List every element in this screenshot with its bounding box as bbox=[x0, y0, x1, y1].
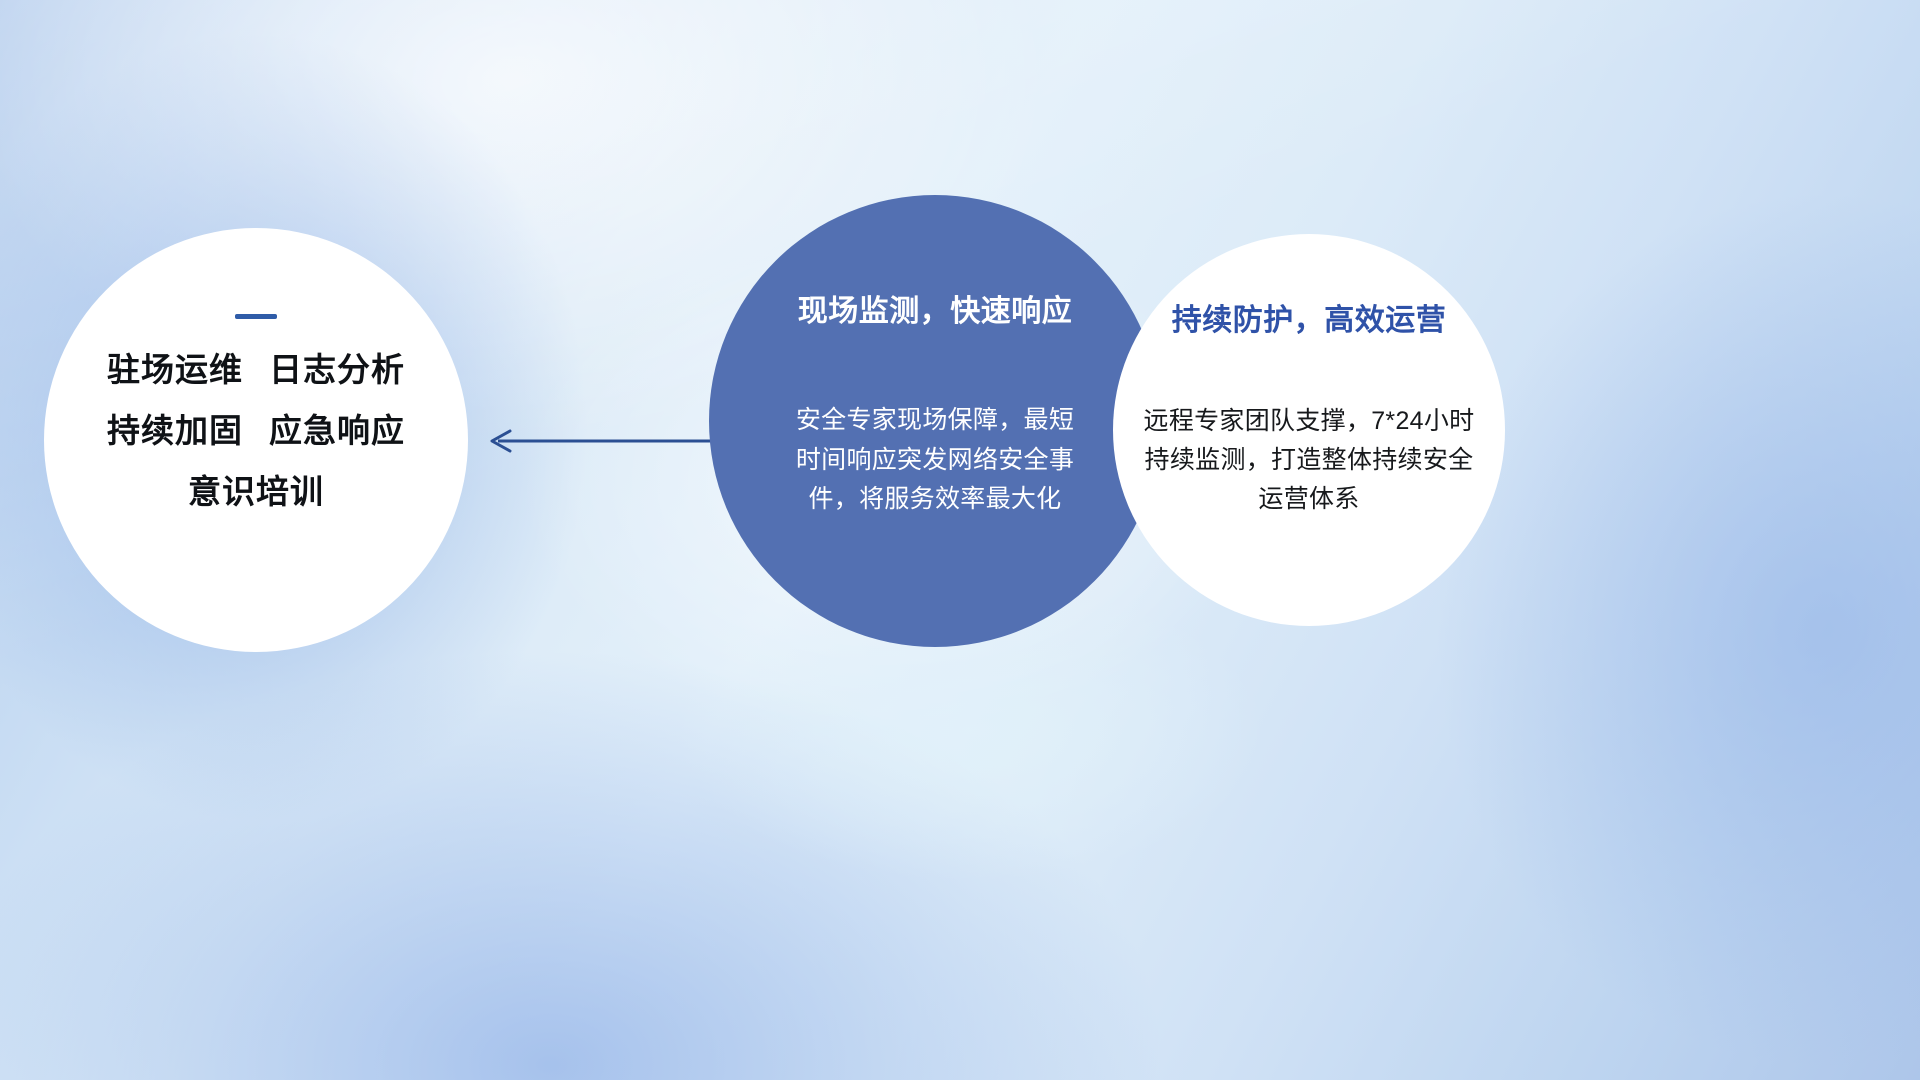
slide-canvas: 驻场运维日志分析 持续加固应急响应 意识培训 现场监测，快速响应 安全专家现场保… bbox=[0, 0, 1920, 1080]
accent-dash-icon bbox=[235, 314, 277, 319]
continuous-protection-body: 远程专家团队支撑，7*24小时持续监测，打造整体持续安全运营体系 bbox=[1133, 402, 1485, 519]
onsite-monitoring-title: 现场监测，快速响应 bbox=[798, 297, 1073, 327]
flow-arrow-left-icon bbox=[484, 420, 714, 462]
capability-label: 持续加固 bbox=[107, 412, 243, 449]
onsite-monitoring-circle: 现场监测，快速响应 安全专家现场保障，最短时间响应突发网络安全事件，将服务效率最… bbox=[709, 195, 1161, 647]
capability-label: 应急响应 bbox=[269, 412, 405, 449]
capabilities-circle: 驻场运维日志分析 持续加固应急响应 意识培训 bbox=[44, 228, 468, 652]
capabilities-list: 驻场运维日志分析 持续加固应急响应 意识培训 bbox=[107, 353, 405, 508]
continuous-protection-circle: 持续防护，高效运营 远程专家团队支撑，7*24小时持续监测，打造整体持续安全运营… bbox=[1113, 234, 1505, 626]
capabilities-row-1: 驻场运维日志分析 bbox=[107, 353, 405, 386]
continuous-protection-title: 持续防护，高效运营 bbox=[1172, 306, 1447, 336]
onsite-monitoring-body: 安全专家现场保障，最短时间响应突发网络安全事件，将服务效率最大化 bbox=[785, 401, 1085, 520]
capability-label: 意识培训 bbox=[188, 473, 324, 510]
capability-label: 驻场运维 bbox=[107, 351, 243, 388]
capability-label: 日志分析 bbox=[269, 351, 405, 388]
capabilities-row-3: 意识培训 bbox=[188, 475, 324, 508]
capabilities-row-2: 持续加固应急响应 bbox=[107, 414, 405, 447]
